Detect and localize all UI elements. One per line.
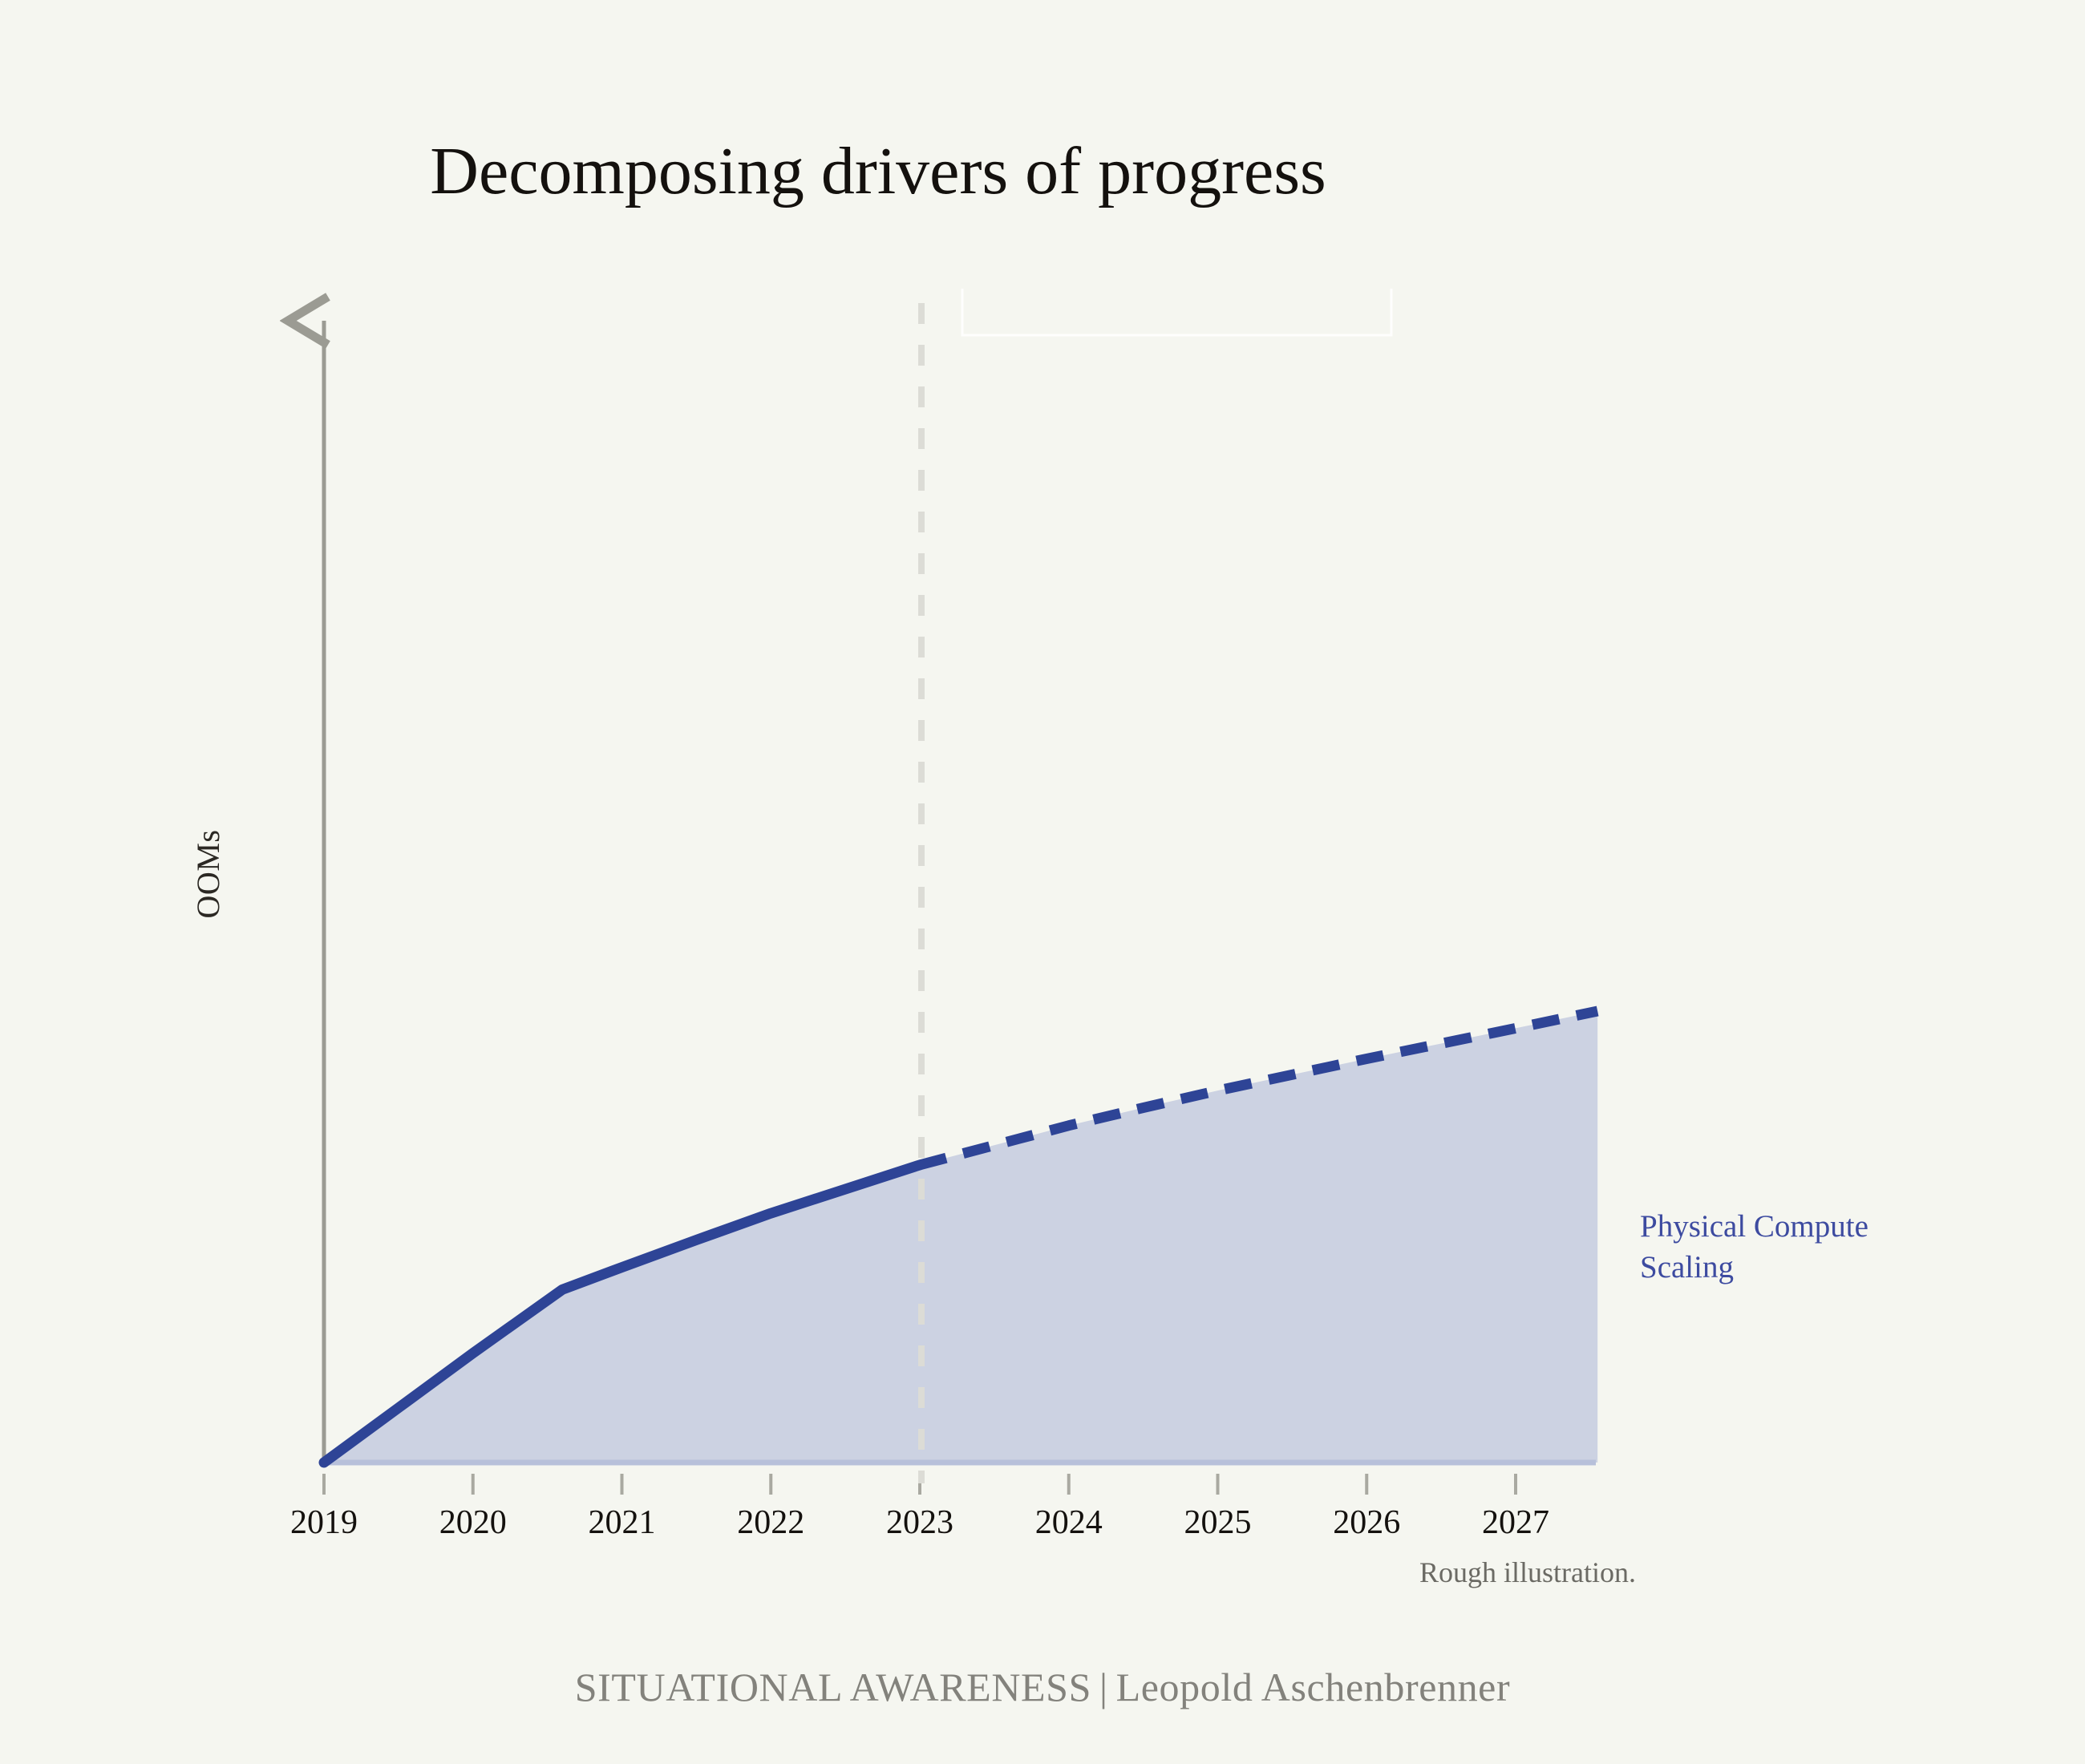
- x-axis-tick-label: 2023: [840, 1503, 1000, 1542]
- footer-attribution: SITUATIONAL AWARENESS|Leopold Aschenbren…: [0, 1664, 2085, 1710]
- forecast-bracket-decoration: [962, 289, 1391, 335]
- x-axis-tick-label: 2027: [1435, 1503, 1596, 1542]
- series-area-fill: [324, 1011, 1597, 1463]
- x-axis-tick-label: 2024: [989, 1503, 1149, 1542]
- x-axis-tick-label: 2026: [1286, 1503, 1447, 1542]
- legend-line-1: Physical Compute: [1640, 1207, 1977, 1248]
- footer-author: Leopold Aschenbrenner: [1116, 1665, 1511, 1709]
- chart-plot-area: [0, 0, 2085, 1764]
- legend-line-2: Scaling: [1640, 1248, 1977, 1289]
- footer-separator: |: [1091, 1665, 1116, 1709]
- x-axis-tick-label: 2025: [1138, 1503, 1298, 1542]
- legend-physical-compute-scaling: Physical Compute Scaling: [1640, 1207, 1977, 1288]
- y-axis-title: OOMs: [189, 794, 227, 954]
- x-axis-tick-label: 2019: [244, 1503, 404, 1542]
- chart-canvas: Decomposing drivers of progress OOMs 201…: [0, 0, 2085, 1764]
- x-axis-tick-label: 2021: [542, 1503, 702, 1542]
- x-axis-tick-label: 2022: [690, 1503, 851, 1542]
- x-axis-tick-label: 2020: [393, 1503, 553, 1542]
- chart-note: Rough illustration.: [866, 1556, 1636, 1589]
- footer-brand: SITUATIONAL AWARENESS: [575, 1665, 1091, 1709]
